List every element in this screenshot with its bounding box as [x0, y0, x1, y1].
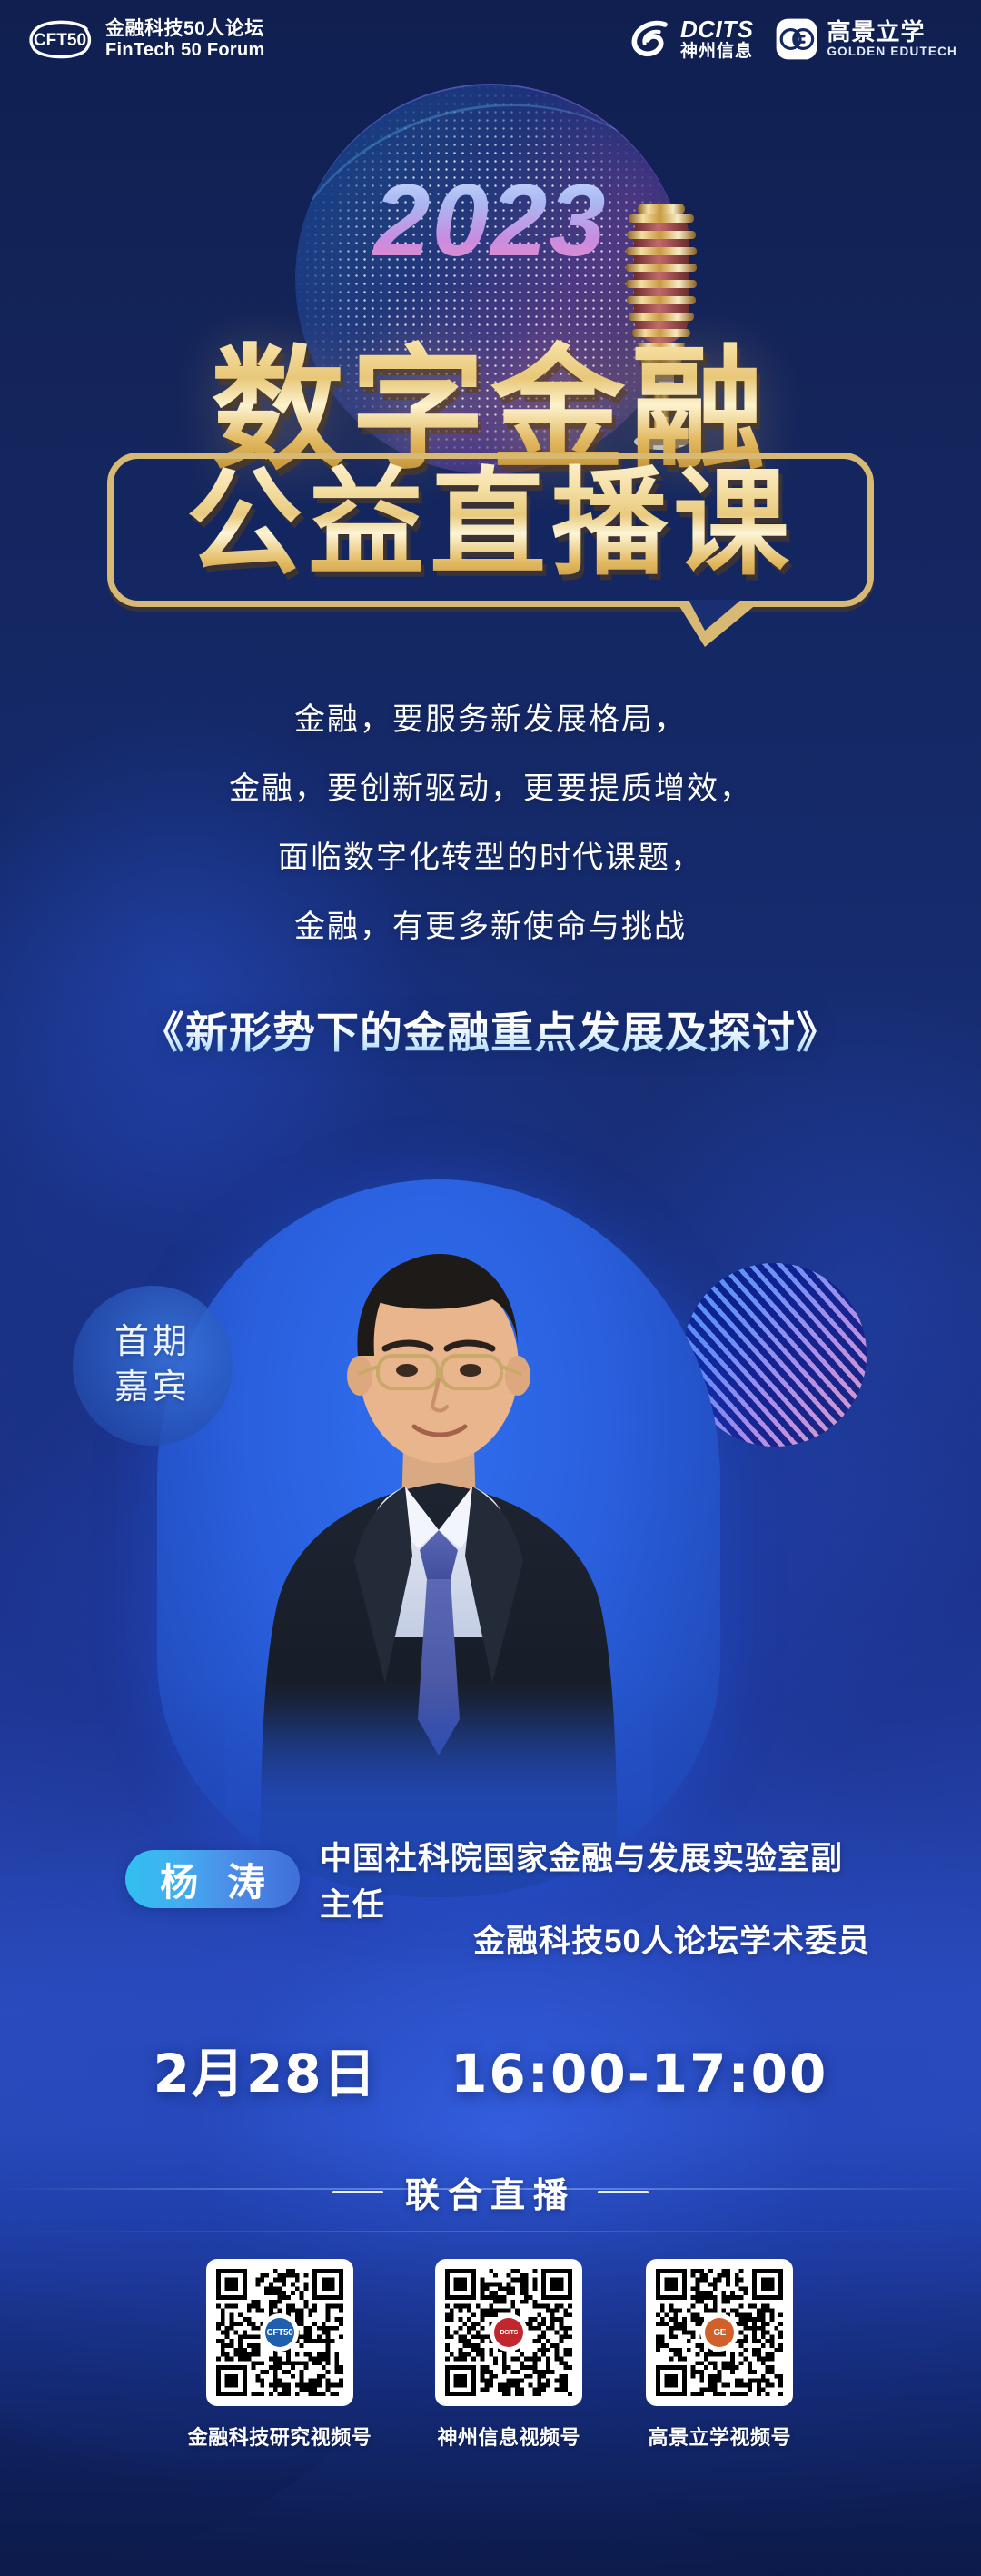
golden-edutech-name-en: GOLDEN EDUTECH: [827, 45, 957, 58]
qr-code-image[interactable]: GE: [646, 2259, 793, 2406]
qr-item[interactable]: GE 高景立学视频号: [646, 2259, 793, 2451]
qr-code-image[interactable]: DCITS: [435, 2259, 582, 2406]
qr-logo-badge: GE: [705, 2318, 734, 2347]
topic-title: 《新形势下的金融重点发展及探讨》: [0, 998, 981, 1060]
poster-title-sub-frame: 公益直播课: [107, 453, 874, 607]
schedule-date: 2月28日: [154, 2043, 378, 2104]
schedule-datetime: 2月28日 16:00-17:00: [0, 2031, 981, 2107]
qr-label: 高景立学视频号: [648, 2422, 791, 2451]
qr-item[interactable]: DCITS 神州信息视频号: [435, 2259, 582, 2451]
guest-badge: 首期 嘉宾: [73, 1286, 233, 1446]
header-logo-bar: CFT50 金融科技50人论坛 FinTech 50 Forum DCITS 神…: [0, 0, 981, 87]
qr-label: 神州信息视频号: [437, 2422, 580, 2451]
guest-badge-line1: 首期: [114, 1323, 191, 1363]
speaker-name-pill: 杨 涛: [125, 1850, 300, 1908]
golden-edutech-icon: [775, 17, 818, 61]
speaker-role-line1: 中国社科院国家金融与发展实验室副主任: [320, 1833, 870, 1925]
cft50-wordmark: 金融科技50人论坛 FinTech 50 Forum: [105, 18, 265, 60]
logo-cft50: CFT50 金融科技50人论坛 FinTech 50 Forum: [25, 15, 265, 64]
intro-line: 面临数字化转型的时代课题，: [0, 842, 981, 873]
schedule-time: 16:00-17:00: [451, 2043, 827, 2104]
qr-logo-badge: DCITS: [494, 2318, 523, 2347]
intro-line: 金融，要服务新发展格局，: [0, 704, 981, 735]
joint-live-heading: 联合直播: [0, 2167, 981, 2217]
qr-code-image[interactable]: CFT50: [206, 2259, 353, 2406]
qr-center-logo: CFT50: [263, 2315, 297, 2350]
speaker-role-line2: 金融科技50人论坛学术委员: [0, 1915, 870, 1962]
joint-live-label: 联合直播: [405, 2167, 576, 2217]
cft50-name-en: FinTech 50 Forum: [105, 40, 265, 60]
logo-dcits: DCITS 神州信息: [629, 16, 754, 62]
dcits-name-cn: 神州信息: [680, 43, 754, 61]
intro-line: 金融，要创新驱动，更要提质增效，: [0, 773, 981, 804]
partner-logos: DCITS 神州信息 高景立学 GOLDEN EDUTECH: [629, 16, 957, 62]
qr-item[interactable]: CFT50 金融科技研究视频号: [188, 2259, 372, 2451]
qr-label: 金融科技研究视频号: [188, 2422, 372, 2451]
background-horizon-line-secondary: [0, 2231, 981, 2232]
cft50-mark-icon: CFT50: [25, 15, 94, 64]
speech-bubble-tail-icon: [678, 603, 758, 647]
dcits-name-en: DCITS: [680, 17, 754, 43]
golden-edutech-wordmark: 高景立学 GOLDEN EDUTECH: [827, 20, 957, 58]
year-label: 2023: [0, 162, 981, 279]
guest-badge-line2: 嘉宾: [114, 1368, 191, 1408]
divider-dash-left: [332, 2191, 383, 2193]
svg-text:CFT50: CFT50: [34, 31, 86, 50]
logo-golden-edutech: 高景立学 GOLDEN EDUTECH: [775, 17, 957, 61]
intro-line: 金融，有更多新使命与挑战: [0, 911, 981, 942]
dcits-wordmark: DCITS 神州信息: [680, 17, 754, 61]
intro-paragraph: 金融，要服务新发展格局， 金融，要创新驱动，更要提质增效， 面临数字化转型的时代…: [0, 704, 981, 980]
cft50-name-cn: 金融科技50人论坛: [105, 18, 265, 40]
poster-root: CFT50 金融科技50人论坛 FinTech 50 Forum DCITS 神…: [0, 0, 981, 2576]
golden-edutech-name-cn: 高景立学: [827, 20, 957, 45]
qr-logo-badge: CFT50: [265, 2318, 294, 2347]
dcits-swirl-icon: [629, 16, 672, 62]
speaker-name-row: 杨 涛 中国社科院国家金融与发展实验室副主任: [125, 1849, 870, 1909]
divider-dash-right: [598, 2191, 649, 2193]
speaker-name: 杨 涛: [151, 1852, 274, 1907]
speaker-photo: [157, 1179, 720, 1897]
qr-center-logo: GE: [702, 2315, 737, 2350]
qr-center-logo: DCITS: [491, 2315, 526, 2350]
qr-code-row: CFT50 金融科技研究视频号 DCITS 神州信息视频号 GE 高景立学视频号: [0, 2259, 981, 2451]
poster-title-sub: 公益直播课: [107, 447, 874, 602]
